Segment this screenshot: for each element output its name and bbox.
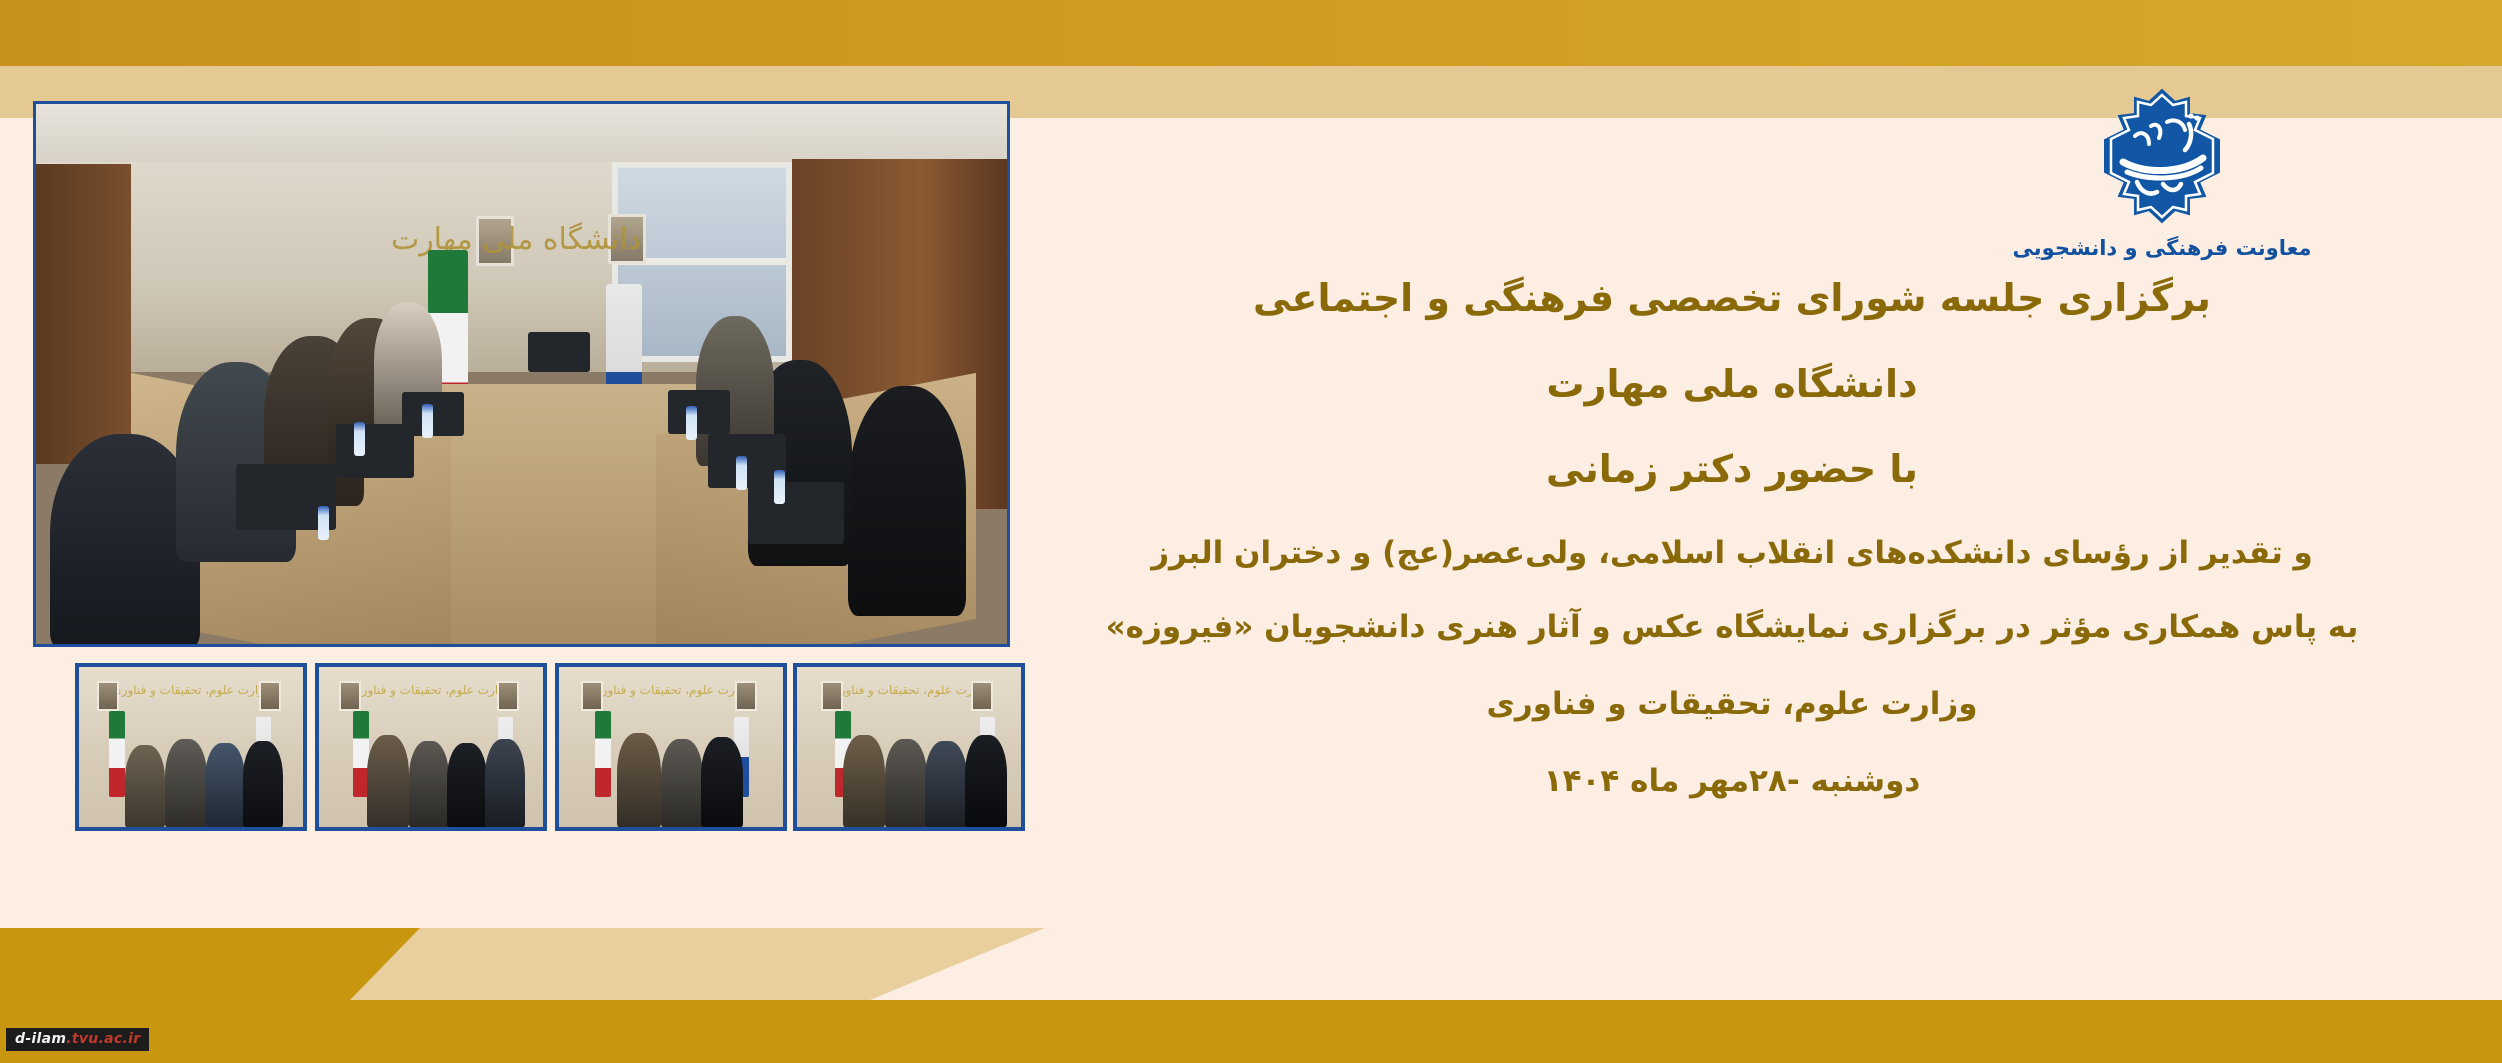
watermark-prefix: d-ilam	[15, 1031, 66, 1047]
thumbnail-1[interactable]: وزارت علوم، تحقیقات و فناوری	[75, 663, 307, 831]
attendee-right-1	[848, 386, 966, 616]
thumb4-person-4	[965, 735, 1007, 827]
water-bottle-4	[736, 456, 747, 490]
university-crest-icon	[2101, 88, 2223, 224]
monitor-4	[668, 390, 730, 434]
thumb3-iran-flag	[595, 711, 611, 797]
wall-banner-text: دانشگاه ملی مهارت	[366, 192, 666, 287]
thumb1-portrait-left	[97, 681, 119, 711]
thumb2-portrait-left	[339, 681, 361, 711]
thumb1-person-1	[125, 745, 165, 827]
headline-line-5: به پاس همکاری مؤثر در برگزاری نمایشگاه ع…	[1082, 608, 2382, 647]
hero-photo: دانشگاه ملی مهارت	[33, 101, 1010, 647]
headline-line-4: و تقدیر از رؤسای دانشکده‌های انقلاب اسلا…	[1082, 534, 2382, 573]
thumb4-person-2	[885, 739, 927, 827]
wood-panel-left	[36, 164, 131, 464]
logo-block: معاونت فرهنگی و دانشجویی	[1992, 88, 2332, 260]
thumb2-portrait-right	[497, 681, 519, 711]
site-watermark: d-ilam.tvu.ac.ir	[6, 1028, 149, 1051]
water-bottle-2	[422, 404, 433, 438]
thumb1-person-3	[205, 743, 245, 827]
thumb4-person-1	[843, 735, 885, 827]
headline-line-6: وزارت علوم، تحقیقات و فناوری	[1082, 685, 2382, 724]
thumb1-iran-flag	[109, 711, 125, 797]
watermark-suffix: .tvu.ac.ir	[66, 1031, 140, 1047]
thumb3-person-2	[661, 739, 703, 827]
announcement-banner: دانشگاه ملی مهارت وز	[0, 0, 2502, 1063]
thumb3-portrait-left	[581, 681, 603, 711]
thumb3-person-3	[701, 737, 743, 827]
bottom-left-gold-wedge	[0, 928, 420, 1000]
thumb2-wall-text: وزارت علوم، تحقیقات و فناوری	[352, 683, 510, 697]
headline-line-3: با حضور دکتر زمانی	[1082, 446, 2382, 494]
monitor-head	[528, 332, 590, 372]
thumbnail-3[interactable]: وزارت علوم، تحقیقات و فناوری	[555, 663, 787, 831]
thumb3-wall-text: وزارت علوم، تحقیقات و فناوری	[592, 683, 750, 697]
thumbnail-4[interactable]: وزارت علوم، تحقیقات و فناوری	[793, 663, 1025, 831]
thumb2-person-4	[485, 739, 525, 827]
thumb3-person-1	[617, 733, 661, 827]
thumb2-person-2	[409, 741, 449, 827]
water-bottle-6	[318, 506, 329, 540]
thumb1-person-4	[243, 741, 283, 827]
water-bottle-1	[354, 422, 365, 456]
thumb4-wall-text: وزارت علوم، تحقیقات و فناوری	[830, 683, 988, 697]
thumb1-portrait-right	[259, 681, 281, 711]
thumbnail-2[interactable]: وزارت علوم، تحقیقات و فناوری	[315, 663, 547, 831]
thumb1-wall-text: وزارت علوم، تحقیقات و فناوری	[112, 683, 270, 697]
top-gold-band	[0, 0, 2502, 66]
water-bottle-3	[686, 406, 697, 440]
monitor-6	[748, 482, 844, 544]
thumb2-person-3	[447, 743, 487, 827]
monitor-3	[402, 392, 464, 436]
headline-line-1: برگزاری جلسه شورای تخصصی فرهنگی و اجتماع…	[1082, 275, 2382, 323]
headline-block: برگزاری جلسه شورای تخصصی فرهنگی و اجتماع…	[1082, 275, 2382, 801]
headline-line-2: دانشگاه ملی مهارت	[1082, 361, 2382, 409]
thumb4-portrait-left	[821, 681, 843, 711]
department-label: معاونت فرهنگی و دانشجویی	[1992, 236, 2332, 260]
thumb2-person-1	[367, 735, 409, 827]
bottom-gold-band	[0, 1000, 2502, 1063]
thumb1-person-2	[165, 739, 207, 827]
water-bottle-5	[774, 470, 785, 504]
thumb3-portrait-right	[735, 681, 757, 711]
headline-line-7: دوشنبه -۲۸مهر ماه ۱۴۰۴	[1082, 762, 2382, 801]
thumb4-portrait-right	[971, 681, 993, 711]
thumb4-person-3	[925, 741, 967, 827]
